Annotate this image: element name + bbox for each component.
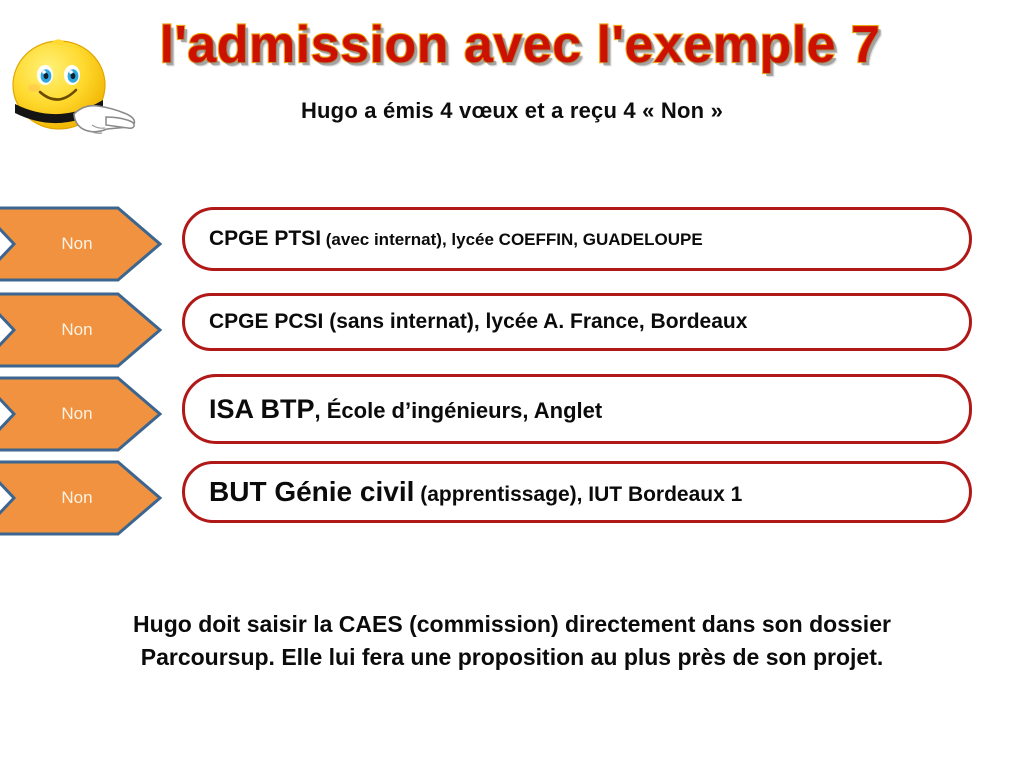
footnote: Hugo doit saisir la CAES (commission) di… xyxy=(62,608,962,674)
wish-box-3[interactable]: ISA BTP, École d’ingénieurs, Anglet xyxy=(182,374,972,444)
smiley-pointing-icon xyxy=(6,30,138,142)
answer-arrow-2[interactable]: Non xyxy=(0,292,180,368)
wish-subtitle: , École d’ingénieurs, Anglet xyxy=(315,398,603,423)
answer-arrow-3[interactable]: Non xyxy=(0,376,180,452)
wish-box-2[interactable]: CPGE PCSI (sans internat), lycée A. Fran… xyxy=(182,293,972,351)
subtitle: Hugo a émis 4 vœux et a reçu 4 « Non » xyxy=(0,98,1024,124)
wish-text: ISA BTP, École d’ingénieurs, Anglet xyxy=(185,394,602,425)
wish-text: BUT Génie civil (apprentissage), IUT Bor… xyxy=(185,476,742,508)
answer-arrow-4[interactable]: Non xyxy=(0,460,180,536)
answer-arrow-column: Non Non Non Non xyxy=(0,186,180,546)
wish-subtitle: (apprentissage), IUT Bordeaux 1 xyxy=(414,483,742,506)
wish-title: CPGE PCSI (sans internat), lycée A. Fran… xyxy=(209,310,747,333)
wish-title: BUT Génie civil xyxy=(209,476,414,507)
answer-arrow-1[interactable]: Non xyxy=(0,206,180,282)
page-title: l'admission avec l'exemple 7 xyxy=(120,12,920,82)
footnote-line-1: Hugo doit saisir la CAES (commission) di… xyxy=(62,608,962,641)
wish-box-4[interactable]: BUT Génie civil (apprentissage), IUT Bor… xyxy=(182,461,972,523)
footnote-line-2: Parcoursup. Elle lui fera une propositio… xyxy=(62,641,962,674)
wish-title: ISA BTP xyxy=(209,394,315,424)
wish-box-1[interactable]: CPGE PTSI (avec internat), lycée COEFFIN… xyxy=(182,207,972,271)
wish-text: CPGE PCSI (sans internat), lycée A. Fran… xyxy=(185,310,747,334)
wish-subtitle: (avec internat), lycée COEFFIN, GUADELOU… xyxy=(321,230,703,249)
wish-text: CPGE PTSI (avec internat), lycée COEFFIN… xyxy=(185,227,703,251)
wish-title: CPGE PTSI xyxy=(209,227,321,250)
